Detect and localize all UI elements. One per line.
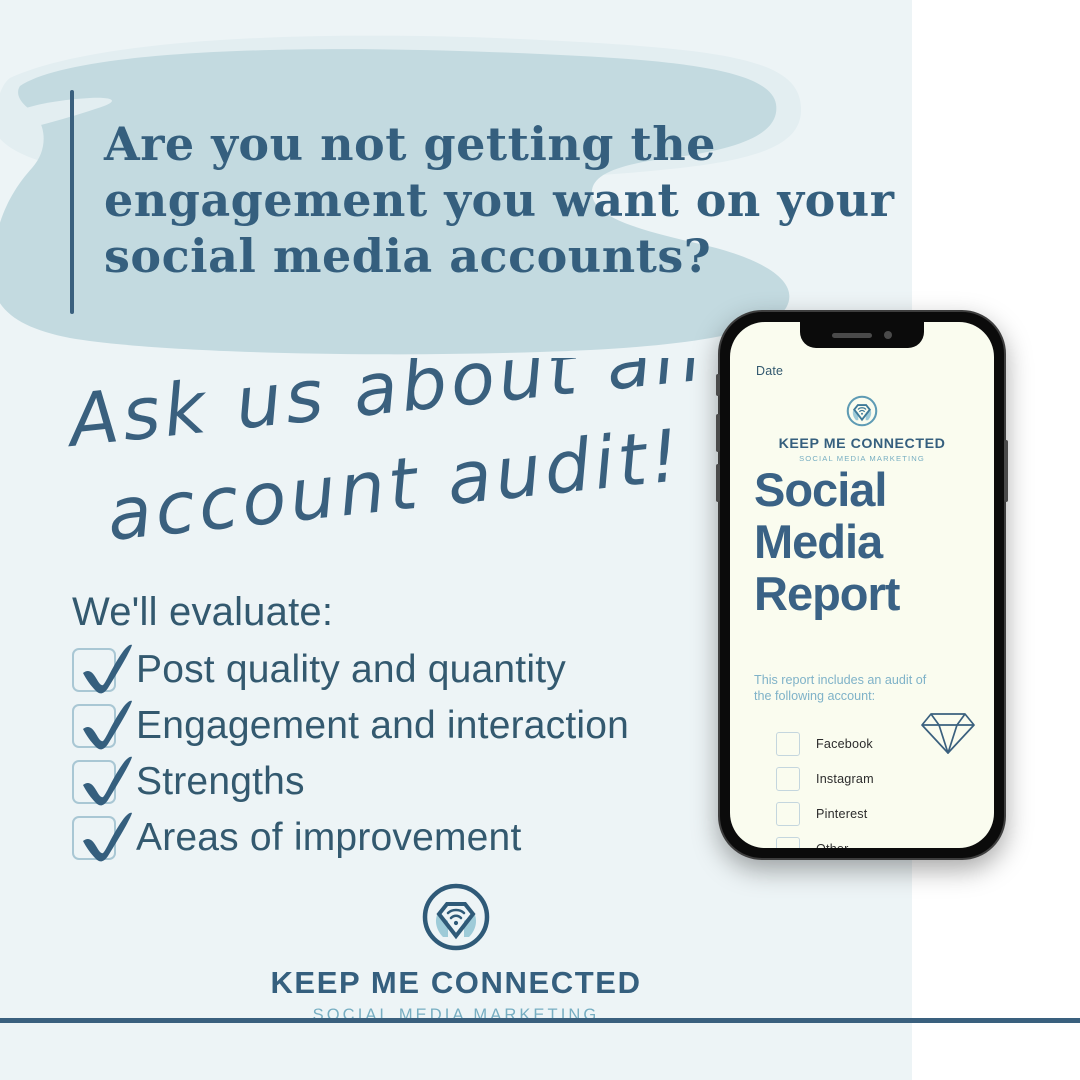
script-cta: Ask us about an account audit! <box>58 358 738 558</box>
phone-mockup: Date KEEP ME CONNECTED SOCIAL MEDIA MARK… <box>718 310 1006 860</box>
headline-accent-bar <box>70 90 74 314</box>
report-tagline: SOCIAL MEDIA MARKETING <box>730 454 994 463</box>
checkbox-checked-icon[interactable] <box>72 701 122 751</box>
checklist-item-label: Post quality and quantity <box>136 648 566 692</box>
phone-volume-up-button[interactable] <box>716 414 720 452</box>
report-account-checklist: Facebook Instagram Pinterest Other <box>776 726 966 848</box>
report-account-row[interactable]: Pinterest <box>776 796 966 831</box>
checkbox-checked-icon[interactable] <box>72 757 122 807</box>
phone-power-button[interactable] <box>1004 440 1008 502</box>
phone-notch <box>800 322 924 348</box>
report-logo-lockup: KEEP ME CONNECTED SOCIAL MEDIA MARKETING <box>730 394 994 463</box>
earpiece-speaker-icon <box>832 333 872 338</box>
phone-screen: Date KEEP ME CONNECTED SOCIAL MEDIA MARK… <box>730 322 994 848</box>
keep-me-connected-logo-icon <box>0 880 912 959</box>
checkbox-empty-icon[interactable] <box>776 802 800 826</box>
report-brand-name: KEEP ME CONNECTED <box>730 436 994 452</box>
phone-volume-down-button[interactable] <box>716 464 720 502</box>
checklist-item-label: Strengths <box>136 760 305 804</box>
checkbox-empty-icon[interactable] <box>776 767 800 791</box>
report-date-label: Date <box>756 364 783 378</box>
checklist-item[interactable]: Areas of improvement <box>72 810 692 866</box>
phone-mute-switch[interactable] <box>716 374 720 396</box>
report-account-label: Facebook <box>816 737 873 751</box>
checkbox-checked-icon[interactable] <box>72 645 122 695</box>
footer-brand-name: KEEP ME CONNECTED <box>0 965 912 1001</box>
checklist-heading: We'll evaluate: <box>72 590 333 635</box>
checklist-item-label: Engagement and interaction <box>136 704 629 748</box>
report-account-row[interactable]: Other <box>776 831 966 848</box>
checkbox-checked-icon[interactable] <box>72 813 122 863</box>
page-title: Are you not getting the engagement you w… <box>104 116 934 284</box>
footer-logo-lockup: KEEP ME CONNECTED SOCIAL MEDIA MARKETING <box>0 880 912 1025</box>
report-account-label: Pinterest <box>816 807 868 821</box>
checkbox-empty-icon[interactable] <box>776 732 800 756</box>
poster-canvas: Are you not getting the engagement you w… <box>0 0 1080 1080</box>
bottom-divider <box>0 1018 1080 1023</box>
checklist-item[interactable]: Engagement and interaction <box>72 698 692 754</box>
report-account-row[interactable]: Instagram <box>776 761 966 796</box>
checklist-item-label: Areas of improvement <box>136 816 522 860</box>
front-camera-icon <box>884 331 892 339</box>
report-account-label: Other <box>816 842 849 849</box>
checklist: Post quality and quantity Engagement and… <box>72 642 692 866</box>
checklist-item[interactable]: Strengths <box>72 754 692 810</box>
report-account-row[interactable]: Facebook <box>776 726 966 761</box>
checklist-item[interactable]: Post quality and quantity <box>72 642 692 698</box>
report-account-label: Instagram <box>816 772 874 786</box>
keep-me-connected-logo-icon <box>845 415 879 432</box>
report-title: Social Media Report <box>754 464 969 620</box>
checkbox-empty-icon[interactable] <box>776 837 800 849</box>
report-subtitle: This report includes an audit of the fol… <box>754 672 929 704</box>
